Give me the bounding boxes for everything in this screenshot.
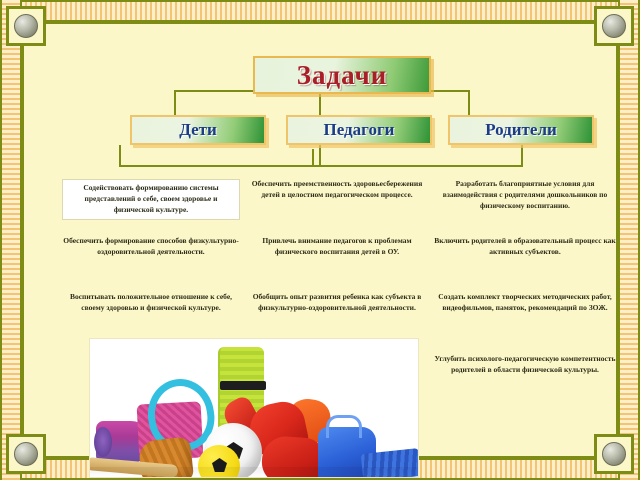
connector-to-roditeli [468, 90, 470, 115]
frame-band-right [618, 0, 640, 480]
corner-bolt-bottom-left [6, 434, 46, 474]
column-header-roditeli[interactable]: Родители [448, 115, 594, 145]
task-pedagogi-3: Обобщить опыт развития ребенка как субъе… [246, 292, 428, 314]
corner-bolt-top-right [594, 6, 634, 46]
slide-title-box: Задачи [253, 56, 431, 94]
column-header-deti-label: Дети [179, 120, 217, 140]
frame-band-top [0, 0, 640, 22]
task-deti-3: Воспитывать положительное отношение к се… [62, 292, 240, 314]
task-roditeli-4: Углубить психолого-педагогическую компет… [432, 354, 618, 376]
page-title: Задачи [297, 60, 388, 91]
task-pedagogi-2: Привлечь внимание педагогов к проблемам … [246, 236, 428, 258]
frame-band-left [0, 0, 22, 480]
corner-bolt-top-left [6, 6, 46, 46]
connector-task-bus [119, 165, 523, 167]
connector-pedagogi-stem [319, 145, 321, 167]
column-header-pedagogi[interactable]: Педагоги [286, 115, 432, 145]
task-roditeli-1: Разработать благоприятные условия для вз… [432, 179, 618, 212]
corner-bolt-bottom-right [594, 434, 634, 474]
task-pedagogi-1: Обеспечить преемственность здоровьесбере… [246, 179, 428, 201]
task-roditeli-3: Создать комплект творческих методических… [432, 292, 618, 314]
task-deti-1: Содействовать формированию системы предс… [62, 179, 240, 220]
connector-deti-drop [119, 145, 121, 167]
column-header-roditeli-label: Родители [485, 120, 557, 140]
slide-content: Задачи Дети Педагоги Родители Содействов… [24, 24, 616, 456]
photo-floor-shadow [90, 467, 419, 477]
column-header-deti[interactable]: Дети [130, 115, 266, 145]
connector-to-deti [174, 90, 176, 115]
sports-equipment-photo [89, 338, 419, 478]
task-deti-2: Обеспечить формирование способов физкуль… [62, 236, 240, 258]
connector-roditeli-drop [521, 145, 523, 167]
task-roditeli-2: Включить родителей в образовательный про… [432, 236, 618, 258]
column-header-pedagogi-label: Педагоги [324, 120, 395, 140]
